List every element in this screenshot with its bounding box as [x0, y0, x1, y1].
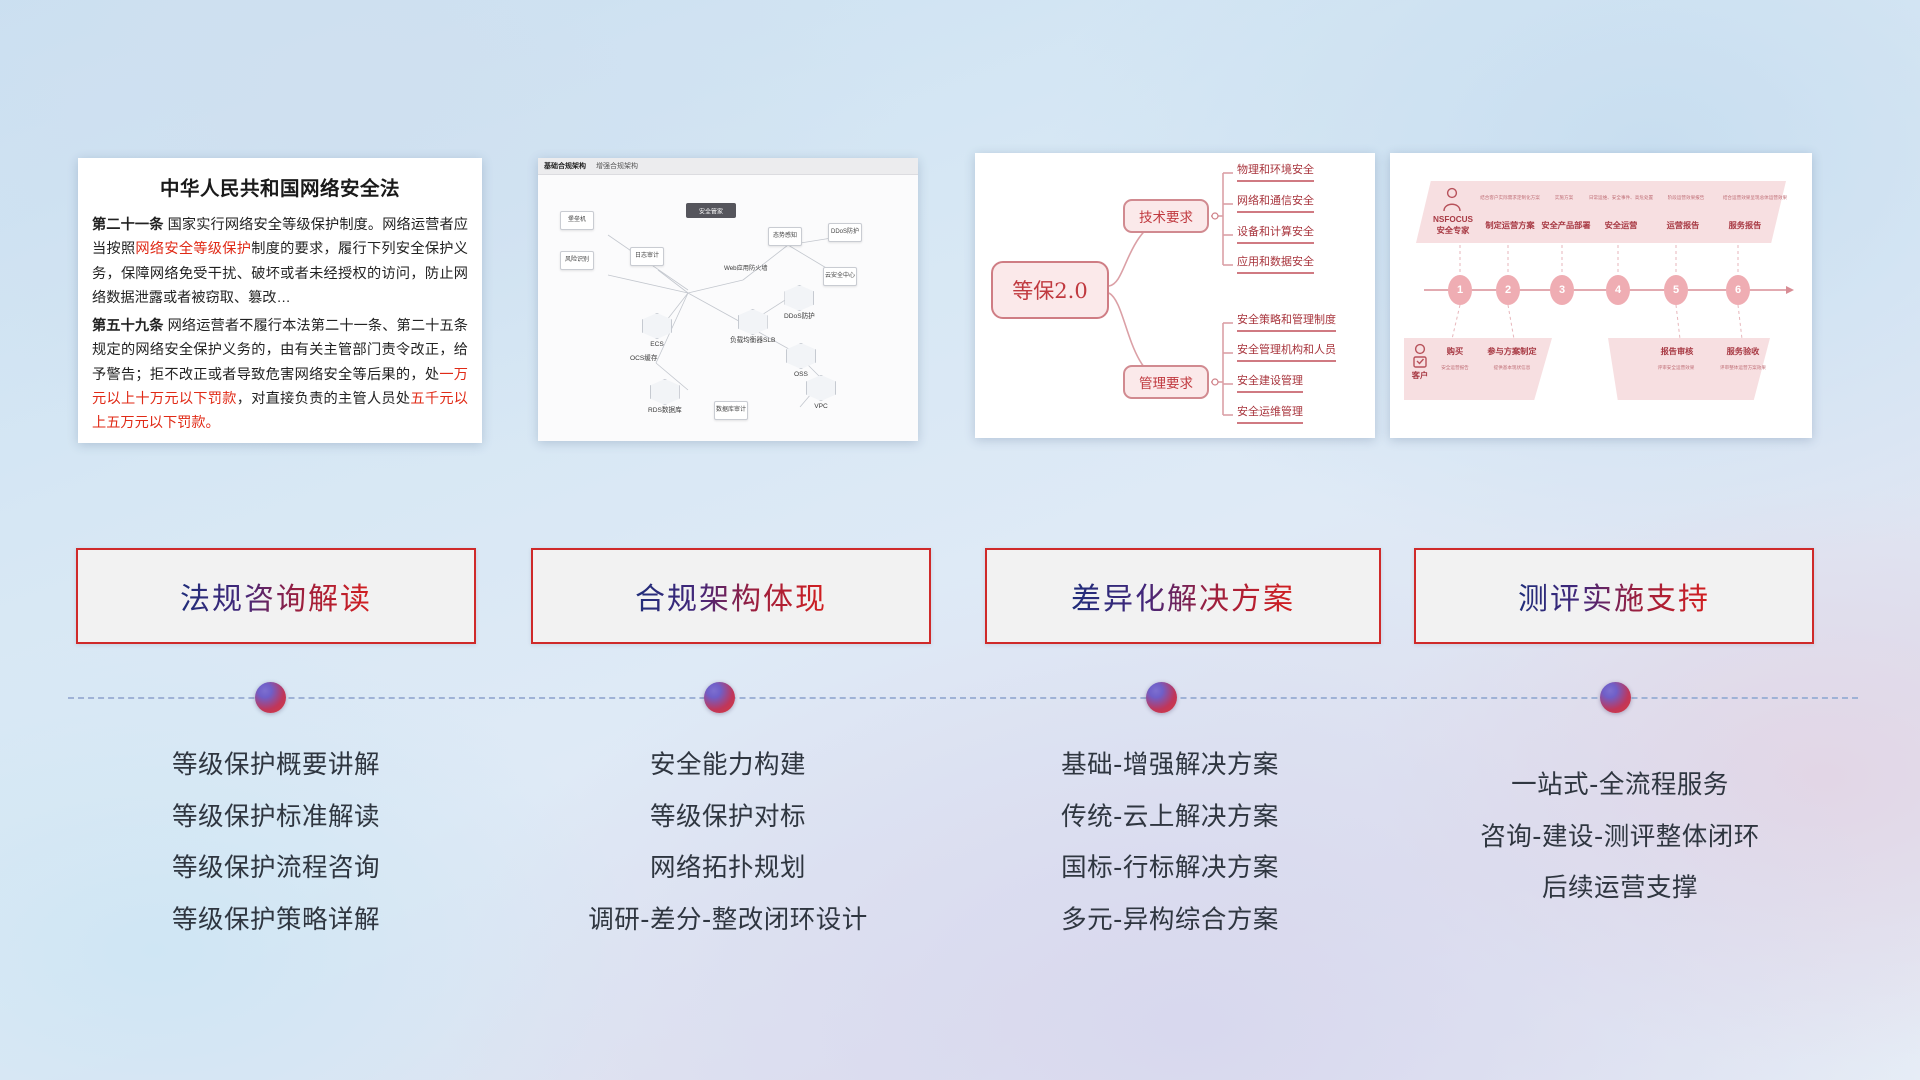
node-log-audit: 日志审计 — [630, 247, 664, 268]
bullet-item: 后续运营支撑 — [1400, 863, 1840, 915]
nsfocus-node-1: 1 — [1448, 275, 1472, 305]
bullet-item: 咨询-建设-测评整体闭环 — [1400, 812, 1840, 864]
bullet-item: 国标-行标解决方案 — [950, 843, 1390, 895]
node-db-audit: 数据库审计 — [714, 401, 748, 422]
bullet-item: 等级保护对标 — [512, 792, 944, 844]
pill-assessment-support[interactable]: 测评实施支持 — [1414, 548, 1814, 644]
law-article-21-highlight: 网络安全等级保护 — [135, 241, 251, 257]
mindmap-core: 等保2.0 — [991, 261, 1109, 319]
nsfocus-timeline: NSFOCUS 安全专家 客户 结合客户实际需求定制化方案 实施方案 日常运维、… — [1390, 153, 1812, 438]
card-mindmap-dengbao: 等保2.0 技术要求 管理要求 物理和环境安全 网络和通信安全 设备和计算安全 … — [975, 153, 1375, 438]
tab-enhanced-architecture[interactable]: 增强合规架构 — [596, 161, 638, 171]
law-article-59-text-b: ，对直接负责的主管人员处 — [237, 391, 411, 407]
card-compliance-architecture: 基础合规架构 增强合规架构 安全管家 — [538, 158, 918, 441]
nsfocus-bottom-label-4: 服务验收 — [1712, 345, 1774, 357]
mindmap-leaf-app-data: 应用和数据安全 — [1237, 253, 1314, 274]
node-antivirus: DDoS防护 — [828, 223, 862, 244]
tab-basic-architecture[interactable]: 基础合规架构 — [544, 161, 586, 171]
architecture-diagram: 基础合规架构 增强合规架构 安全管家 — [538, 158, 918, 441]
mindmap: 等保2.0 技术要求 管理要求 物理和环境安全 网络和通信安全 设备和计算安全 … — [975, 153, 1375, 438]
pill-compliance-architecture[interactable]: 合规架构体现 — [531, 548, 931, 644]
mindmap-leaf-network-comm: 网络和通信安全 — [1237, 192, 1314, 213]
bullet-item: 多元-异构综合方案 — [950, 895, 1390, 947]
nsfocus-top-sub-4: 阶段运营效果报告 — [1656, 195, 1716, 201]
security-expert-icon — [1444, 189, 1460, 211]
bullet-item: 网络拓扑规划 — [512, 843, 944, 895]
bullet-item: 等级保护标准解读 — [60, 792, 492, 844]
nsfocus-bottom-label-1: 购买 — [1438, 345, 1472, 357]
bullet-item: 安全能力构建 — [512, 740, 944, 792]
pill-label-1: 法规咨询解读 — [180, 574, 372, 618]
timeline-dot-1[interactable] — [255, 682, 286, 713]
timeline-dot-3[interactable] — [1146, 682, 1177, 713]
nsfocus-bottom-sub-4: 评审整体运营方案效果 — [1708, 365, 1778, 371]
node-cloud-security-center: 云安全中心 — [823, 267, 857, 288]
architecture-tabbar: 基础合规架构 增强合规架构 — [538, 158, 918, 175]
node-fortress: 堡垒机 — [560, 211, 594, 232]
law-text-block: 中华人民共和国网络安全法 第二十一条 国家实行网络安全等级保护制度。网络运营者应… — [78, 158, 482, 443]
customer-icon — [1414, 345, 1426, 367]
bullet-column-3: 基础-增强解决方案 传统-云上解决方案 国标-行标解决方案 多元-异构综合方案 — [950, 740, 1390, 946]
node-ddos: DDoS防护 — [784, 285, 815, 321]
nsfocus-top-label-4: 运营报告 — [1654, 219, 1712, 231]
nsfocus-node-6: 6 — [1726, 275, 1750, 305]
bullet-item: 基础-增强解决方案 — [950, 740, 1390, 792]
nsfocus-top-label-3: 安全运营 — [1592, 219, 1650, 231]
nsfocus-bottom-sub-3: 评审安全运营效果 — [1644, 365, 1708, 371]
card-nsfocus-service-timeline: NSFOCUS 安全专家 客户 结合客户实际需求定制化方案 实施方案 日常运维、… — [1390, 153, 1812, 438]
node-situational-awareness: 态势感知 — [768, 227, 802, 248]
law-article-21: 第二十一条 国家实行网络安全等级保护制度。网络运营者应当按照网络安全等级保护制度… — [92, 213, 468, 311]
mindmap-branch-technical: 技术要求 — [1123, 199, 1209, 233]
node-oss: OSS — [786, 343, 816, 379]
nsfocus-top-label-2: 安全产品部署 — [1534, 219, 1598, 231]
bullet-item: 等级保护概要讲解 — [60, 740, 492, 792]
bullet-item: 等级保护流程咨询 — [60, 843, 492, 895]
pill-label-4: 测评实施支持 — [1518, 574, 1710, 618]
nsfocus-expert-label: NSFOCUS 安全专家 — [1428, 215, 1478, 236]
pill-regulatory-consulting[interactable]: 法规咨询解读 — [76, 548, 476, 644]
pill-label-3: 差异化解决方案 — [1071, 574, 1295, 618]
mindmap-leaf-physical-env: 物理和环境安全 — [1237, 161, 1314, 182]
mindmap-leaf-policy-system: 安全策略和管理制度 — [1237, 311, 1336, 332]
pill-label-2: 合规架构体现 — [635, 574, 827, 618]
card-cybersecurity-law: 中华人民共和国网络安全法 第二十一条 国家实行网络安全等级保护制度。网络运营者应… — [78, 158, 482, 443]
node-risk-id: 风险识别 — [560, 251, 594, 272]
nsfocus-top-label-5: 服务报告 — [1716, 219, 1774, 231]
bullet-item: 一站式-全流程服务 — [1400, 760, 1840, 812]
node-vpc: VPC — [806, 375, 836, 411]
node-slb: 负载均衡器SLB — [730, 309, 775, 345]
node-ecs: ECS — [642, 313, 672, 349]
mindmap-branch-management: 管理要求 — [1123, 365, 1209, 399]
node-rds: RDS数据库 — [648, 379, 682, 415]
bullet-item: 调研-差分-整改闭环设计 — [512, 895, 944, 947]
nsfocus-top-sub-3: 日常运维、安全事件、高危处置 — [1586, 195, 1656, 201]
bullet-column-4: 一站式-全流程服务 咨询-建设-测评整体闭环 后续运营支撑 — [1400, 760, 1840, 915]
nsfocus-top-label-1: 制定运营方案 — [1478, 219, 1542, 231]
nsfocus-bottom-sub-1: 安全运营报告 — [1434, 365, 1476, 371]
node-waf: Web应用防火墙 — [724, 265, 768, 273]
node-ocs-cache: OCS缓存 — [630, 355, 657, 363]
architecture-canvas: 安全管家 堡垒机 风险识别 日志审计 态势感知 DDoS防护 云安全中心 Web… — [538, 175, 918, 441]
mindmap-leaf-ops-mgmt: 安全运维管理 — [1237, 403, 1303, 424]
nsfocus-bottom-sub-2: 提供基本现状信息 — [1480, 365, 1544, 371]
nsfocus-top-sub-5: 结合运营效果呈现总体运营效果 — [1716, 195, 1794, 201]
nsfocus-customer-label: 客户 — [1402, 369, 1438, 381]
mindmap-leaf-device-compute: 设备和计算安全 — [1237, 223, 1314, 244]
nsfocus-top-sub-1: 结合客户实际需求定制化方案 — [1480, 195, 1540, 201]
bullet-item: 传统-云上解决方案 — [950, 792, 1390, 844]
nsfocus-node-4: 4 — [1606, 275, 1630, 305]
bullet-column-2: 安全能力构建 等级保护对标 网络拓扑规划 调研-差分-整改闭环设计 — [512, 740, 944, 946]
law-article-59: 第五十九条 网络运营者不履行本法第二十一条、第二十五条规定的网络安全保护义务的，… — [92, 314, 468, 436]
timeline-dot-2[interactable] — [704, 682, 735, 713]
nsfocus-node-2: 2 — [1496, 275, 1520, 305]
law-title: 中华人民共和国网络安全法 — [92, 172, 468, 201]
svg-text:安全管家: 安全管家 — [699, 208, 723, 216]
slide-canvas: 中华人民共和国网络安全法 第二十一条 国家实行网络安全等级保护制度。网络运营者应… — [0, 0, 1920, 1080]
pill-differentiated-solution[interactable]: 差异化解决方案 — [985, 548, 1381, 644]
nsfocus-top-sub-2: 实施方案 — [1542, 195, 1586, 201]
law-article-21-label: 第二十一条 — [92, 217, 164, 233]
bullet-item: 等级保护策略详解 — [60, 895, 492, 947]
law-article-59-label: 第五十九条 — [92, 318, 164, 334]
nsfocus-bottom-label-3: 报告审核 — [1646, 345, 1708, 357]
timeline-dot-4[interactable] — [1600, 682, 1631, 713]
nsfocus-node-3: 3 — [1550, 275, 1574, 305]
nsfocus-node-5: 5 — [1664, 275, 1688, 305]
nsfocus-bottom-label-2: 参与方案制定 — [1476, 345, 1548, 357]
mindmap-leaf-construction-mgmt: 安全建设管理 — [1237, 372, 1303, 393]
timeline-dashed-line — [68, 697, 1858, 699]
mindmap-leaf-org-personnel: 安全管理机构和人员 — [1237, 341, 1336, 362]
bullet-column-1: 等级保护概要讲解 等级保护标准解读 等级保护流程咨询 等级保护策略详解 — [60, 740, 492, 946]
